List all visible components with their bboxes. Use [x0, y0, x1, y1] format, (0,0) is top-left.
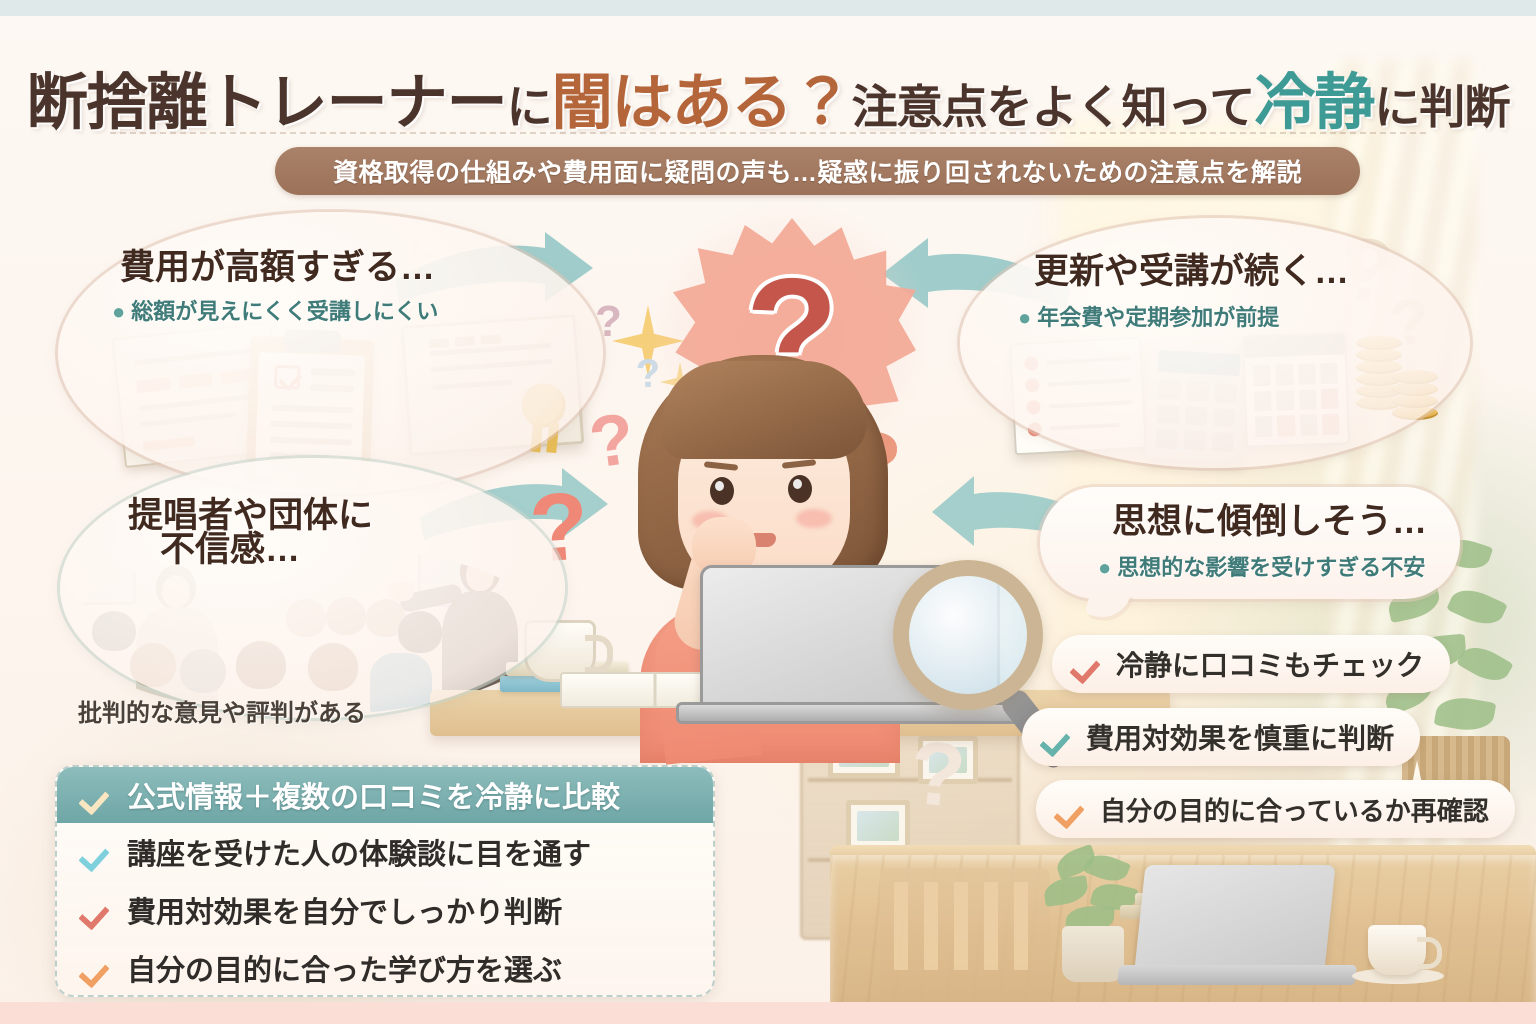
title-part-5: 冷静: [1254, 68, 1374, 136]
check-icon: [1072, 649, 1102, 679]
summary-panel-header-label: 公式情報＋複数の口コミを冷静に比較: [127, 774, 620, 816]
eye: [710, 477, 734, 505]
magnifying-glass: [893, 560, 1043, 710]
subtitle-banner: 資格取得の仕組みや費用面に疑問の声も…疑惑に振り回されないための注意点を解説: [275, 147, 1360, 195]
bubble-ideology-sub-text: 思想的な影響を受けすぎる不安: [1117, 555, 1425, 580]
bubble-cost-sub: ●総額が見えにくく受講しにくい: [112, 294, 438, 326]
bubble-renewal-sub-text: 年会費や定期参加が前提: [1037, 305, 1279, 330]
title-part-4: 注意点をよく知って: [852, 81, 1255, 133]
coffee-cup: [1368, 925, 1426, 975]
check-icon: [1056, 794, 1086, 824]
page-title: 断捨離トレーナーに闇はある？注意点をよく知って冷静に判断: [0, 52, 1536, 141]
summary-row-cost-label: 費用対効果を自分でしっかり判断: [127, 889, 562, 931]
summary-row-purpose-label: 自分の目的に合った学び方を選ぶ: [127, 947, 562, 989]
summary-row-purpose[interactable]: 自分の目的に合った学び方を選ぶ: [57, 939, 713, 997]
summary-row-cost[interactable]: 費用対効果を自分でしっかり判断: [57, 881, 713, 939]
check-icon: [81, 780, 111, 810]
check-icon: [81, 895, 111, 925]
title-part-1: 断捨離トレーナー: [27, 68, 507, 136]
bubble-ideology-title: 思想に傾倒しそう…: [1112, 502, 1427, 541]
check-pill-cost-benefit-label: 費用対効果を慎重に判断: [1086, 717, 1394, 757]
check-pill-reviews-label: 冷静に口コミもチェック: [1116, 644, 1424, 684]
check-icon: [81, 837, 111, 867]
hair-bangs: [662, 361, 867, 459]
bullet-dot-icon: ●: [112, 299, 125, 324]
bullet-dot-icon: ●: [1098, 555, 1111, 580]
table-laptop-screen: [1134, 865, 1335, 970]
eye: [788, 475, 812, 503]
bubble-cost-sub-text: 総額が見えにくく受講しにくい: [131, 299, 438, 324]
check-pill-purpose[interactable]: 自分の目的に合っているか再確認: [1036, 780, 1515, 838]
summary-panel: 公式情報＋複数の口コミを冷静に比較 講座を受けた人の体験談に目を通す 費用対効果…: [55, 765, 715, 997]
subtitle-text: 資格取得の仕組みや費用面に疑問の声も…疑惑に振り回されないための注意点を解説: [333, 153, 1302, 189]
chair: [880, 868, 1050, 1018]
check-pill-cost-benefit[interactable]: 費用対効果を慎重に判断: [1022, 708, 1420, 766]
bubble-ideology-sub: ●思想的な影響を受けすぎる不安: [1098, 550, 1425, 582]
blush: [796, 509, 832, 528]
summary-row-experience[interactable]: 講座を受けた人の体験談に目を通す: [57, 823, 713, 881]
bubble-renewal-title: 更新や受講が続く…: [1034, 252, 1349, 291]
bottom-accent-strip: [0, 1002, 1536, 1024]
table-laptop-base: [1117, 965, 1357, 985]
infographic-canvas: ????????? ?: [0, 0, 1536, 1024]
check-pill-reviews[interactable]: 冷静に口コミもチェック: [1052, 635, 1450, 693]
title-part-2: に: [507, 81, 552, 133]
check-pill-purpose-label: 自分の目的に合っているか再確認: [1100, 791, 1489, 828]
bubble-distrust-caption: 批判的な意見や評判がある: [78, 693, 366, 728]
title-part-6: に判断: [1374, 81, 1509, 133]
title-part-3: 闇はある？: [552, 68, 852, 136]
check-icon: [1042, 722, 1072, 752]
check-icon: [81, 953, 111, 983]
top-accent-strip: [0, 0, 1536, 16]
bubble-distrust-title-2: 不信感…: [160, 530, 300, 569]
summary-row-experience-label: 講座を受けた人の体験談に目を通す: [127, 831, 591, 873]
bubble-renewal-sub: ●年会費や定期参加が前提: [1018, 300, 1279, 332]
summary-panel-header: 公式情報＋複数の口コミを冷静に比較: [57, 767, 713, 823]
bubble-cost-title: 費用が高額すぎる…: [120, 248, 435, 287]
bullet-dot-icon: ●: [1018, 305, 1031, 330]
